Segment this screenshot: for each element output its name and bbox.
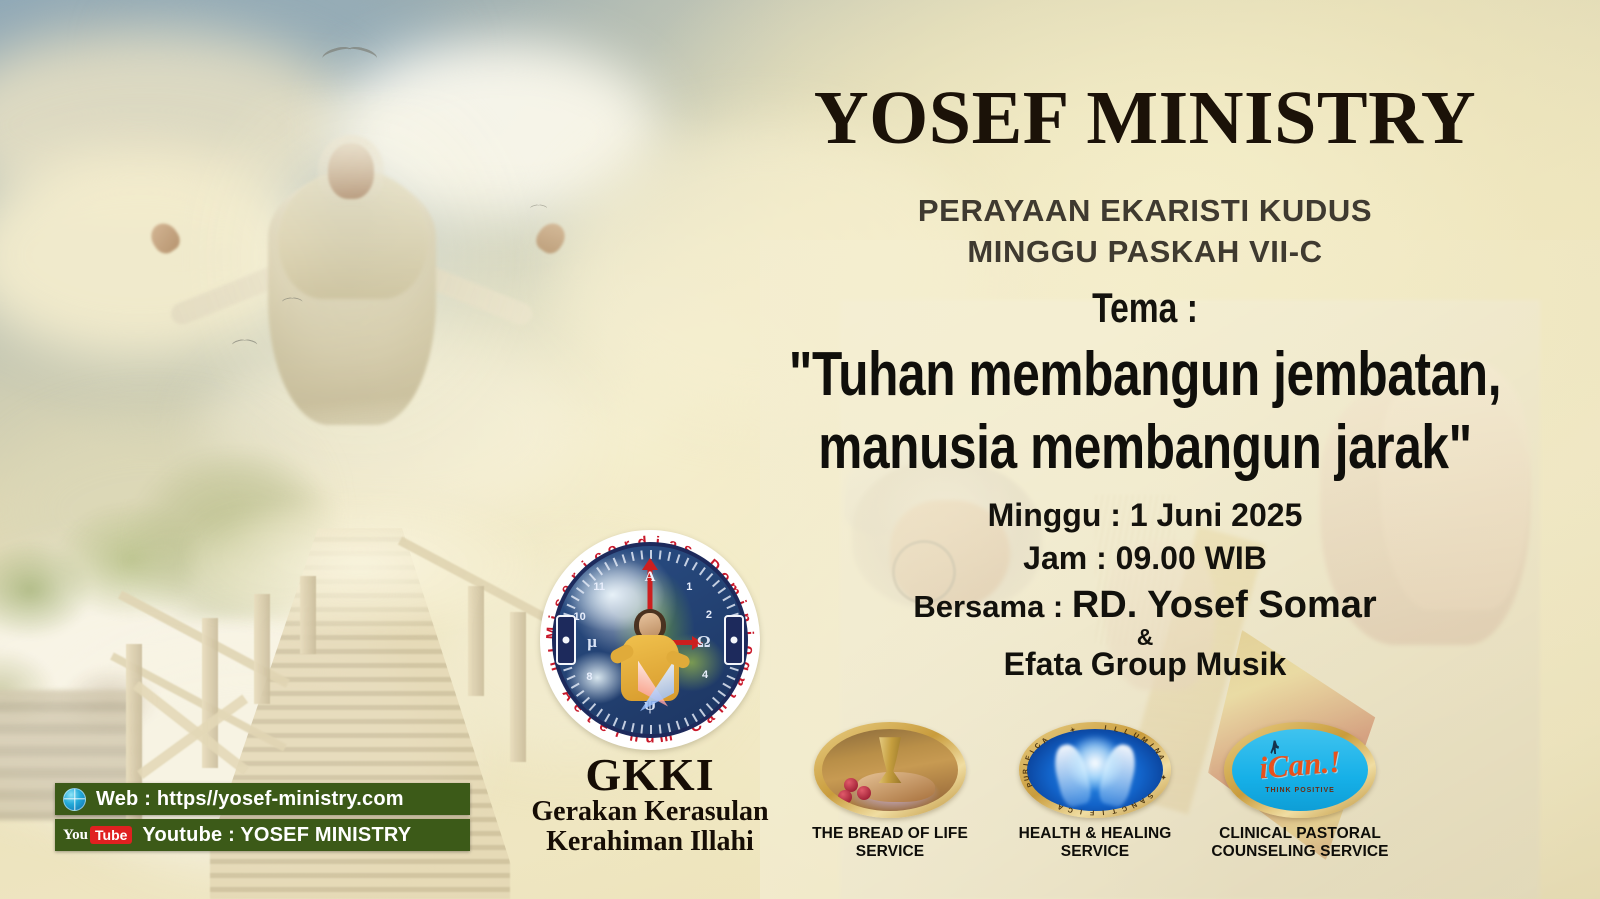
emblem-mu-glyph: μ	[587, 632, 597, 652]
ican-logo-tagline: THINK POSITIVE	[1265, 787, 1335, 794]
subtitle-line-2: MINGGU PASKAH VII-C	[690, 231, 1600, 272]
contact-links: Web : https//yosef-ministry.com You Tube…	[55, 783, 470, 855]
health-healing-icon: PURIFICA ✦ ILLUMINA ✦ SANCTIFICA	[1019, 722, 1171, 818]
gkki-emblem: Misericordias Domini In Aeternum Cantabo…	[540, 530, 760, 750]
service-badge-bread-of-life: THE BREAD OF LIFE SERVICE	[795, 722, 985, 861]
tema-quote-line-1: "Tuhan membangun jembatan,	[781, 338, 1509, 411]
youtube-brand-tube: Tube	[90, 826, 132, 844]
service-label-line-1: THE BREAD OF LIFE	[795, 825, 985, 843]
emblem-alpha-glyph: A	[645, 569, 656, 586]
youtube-icon: You Tube	[63, 826, 132, 844]
poster-root: YOSEF MINISTRY PERAYAAN EKARISTI KUDUS M…	[0, 0, 1600, 899]
celebrant-name: RD. Yosef Somar	[1072, 584, 1377, 626]
youtube-link-bar[interactable]: You Tube Youtube : YOSEF MINISTRY	[55, 819, 470, 851]
gkki-name-line-1: Gerakan Kerasulan	[480, 797, 820, 827]
health-badge-ring-text: PURIFICA ✦ ILLUMINA ✦ SANCTIFICA	[1019, 722, 1171, 818]
service-label-bread-of-life: THE BREAD OF LIFE SERVICE	[795, 825, 985, 861]
tema-label: Tema :	[781, 284, 1509, 332]
gkki-acronym: GKKI	[480, 752, 820, 797]
emblem-number-1: 1	[681, 581, 697, 593]
ican-logo-text: iCan.!	[1258, 744, 1343, 787]
emblem-number-8: 8	[581, 671, 597, 683]
service-label-line-1: CLINICAL PASTORAL	[1205, 825, 1395, 843]
website-link-label: Web : https//yosef-ministry.com	[96, 788, 404, 811]
celebrant-block: Bersama : RD. Yosef Somar & Efata Group …	[690, 584, 1600, 683]
subtitle-line-1: PERAYAAN EKARISTI KUDUS	[690, 190, 1600, 231]
service-label-line-2: SERVICE	[1000, 843, 1190, 861]
event-datetime: Minggu : 1 Juni 2025 Jam : 09.00 WIB	[690, 494, 1600, 580]
gkki-name-line-2: Kerahiman Illahi	[480, 827, 820, 857]
bread-of-life-icon	[814, 722, 966, 818]
celebrant-lead-label: Bersama :	[913, 589, 1072, 624]
ascending-christ-figure	[150, 95, 570, 455]
service-label-clinical-pastoral: CLINICAL PASTORAL COUNSELING SERVICE	[1205, 825, 1395, 861]
youtube-link-label: Youtube : YOSEF MINISTRY	[142, 824, 411, 847]
tema-quote: "Tuhan membangun jembatan, manusia memba…	[781, 338, 1509, 484]
globe-icon	[63, 788, 86, 811]
event-time: Jam : 09.00 WIB	[690, 537, 1600, 580]
service-label-line-2: SERVICE	[795, 843, 985, 861]
emblem-number-4: 4	[697, 669, 713, 681]
youtube-brand-you: You	[63, 827, 88, 844]
event-date: Minggu : 1 Juni 2025	[690, 494, 1600, 537]
service-badge-health-healing: PURIFICA ✦ ILLUMINA ✦ SANCTIFICA HEALTH …	[1000, 722, 1190, 861]
gkki-wordmark: GKKI Gerakan Kerasulan Kerahiman Illahi	[480, 752, 820, 858]
service-label-line-2: COUNSELING SERVICE	[1205, 843, 1395, 861]
service-label-line-1: HEALTH & HEALING	[1000, 825, 1190, 843]
service-label-health-healing: HEALTH & HEALING SERVICE	[1000, 825, 1190, 861]
service-badge-clinical-pastoral: iCan.! THINK POSITIVE CLINICAL PASTORAL …	[1205, 722, 1395, 861]
emblem-omega-glyph: Ω	[697, 632, 711, 652]
emblem-number-2: 2	[701, 609, 717, 621]
service-badges: THE BREAD OF LIFE SERVICE PURIFICA ✦ ILL…	[795, 722, 1415, 882]
event-subtitle: PERAYAAN EKARISTI KUDUS MINGGU PASKAH VI…	[690, 190, 1600, 272]
page-title: YOSEF MINISTRY	[690, 80, 1600, 156]
music-group-name: Efata Group Musik	[690, 647, 1600, 683]
emblem-number-11: 11	[591, 581, 607, 593]
divine-mercy-jesus-icon	[612, 613, 688, 723]
website-link-bar[interactable]: Web : https//yosef-ministry.com	[55, 783, 470, 815]
ican-logo-icon: iCan.! THINK POSITIVE	[1224, 722, 1376, 818]
tema-quote-line-2: manusia membangun jarak"	[781, 411, 1509, 484]
